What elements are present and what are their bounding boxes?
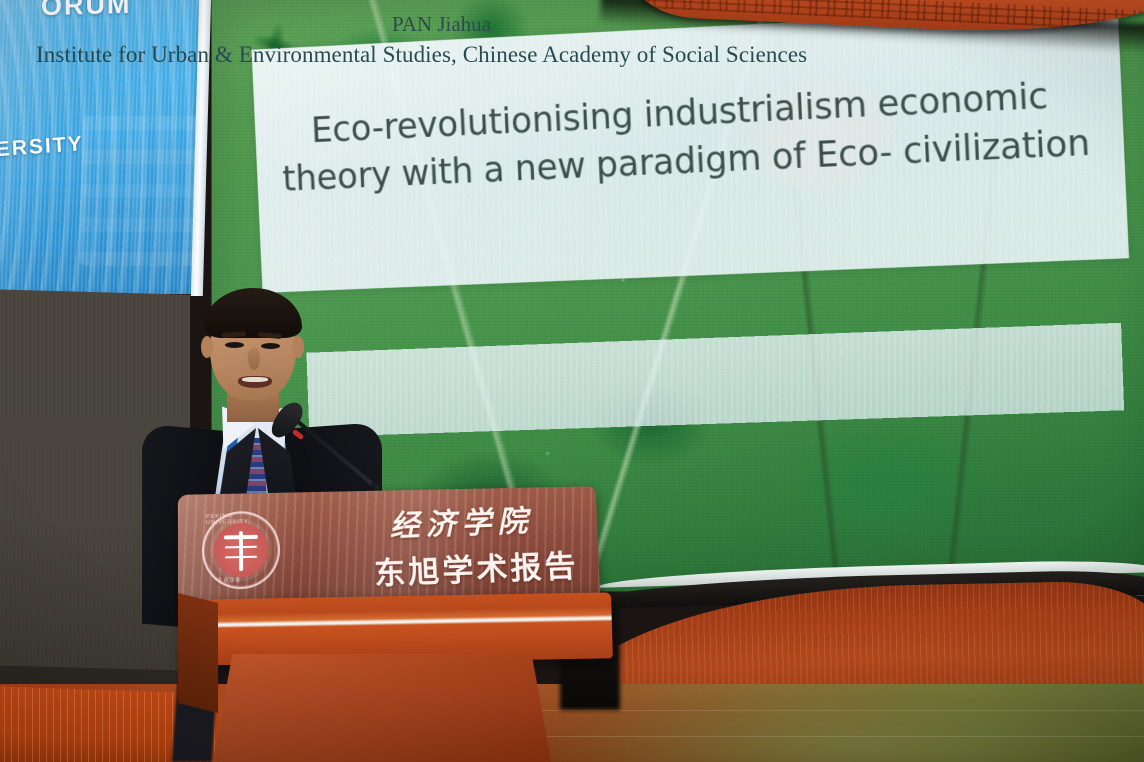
eye-right bbox=[261, 343, 280, 349]
ear-right bbox=[292, 336, 304, 358]
seal-year-text: 1898 bbox=[218, 577, 242, 585]
screen-watermark-graphic bbox=[79, 116, 199, 266]
slide-author-name: PAN Jiahua bbox=[392, 12, 491, 37]
podium-side-face bbox=[178, 593, 218, 713]
seal-center-glyph bbox=[214, 523, 268, 578]
conference-photo-scene: ORUM IVERSITY Eco-revolutionising indust… bbox=[0, 0, 1144, 762]
blue-screen-forum-text: ORUM bbox=[41, 0, 132, 22]
podium-school-name: 经济学院 bbox=[389, 496, 534, 545]
slide-author-affiliation: Institute for Urban & Environmental Stud… bbox=[36, 42, 807, 68]
ear-left bbox=[201, 336, 213, 358]
podium-front-panel: PEKING UNIVERSITY 1898 经济学院 东旭学术报告厅 bbox=[178, 486, 600, 606]
eye-left bbox=[225, 342, 244, 348]
mouth bbox=[238, 376, 272, 388]
hair bbox=[204, 288, 302, 338]
nose bbox=[248, 348, 260, 370]
podium-base-column bbox=[212, 654, 552, 762]
